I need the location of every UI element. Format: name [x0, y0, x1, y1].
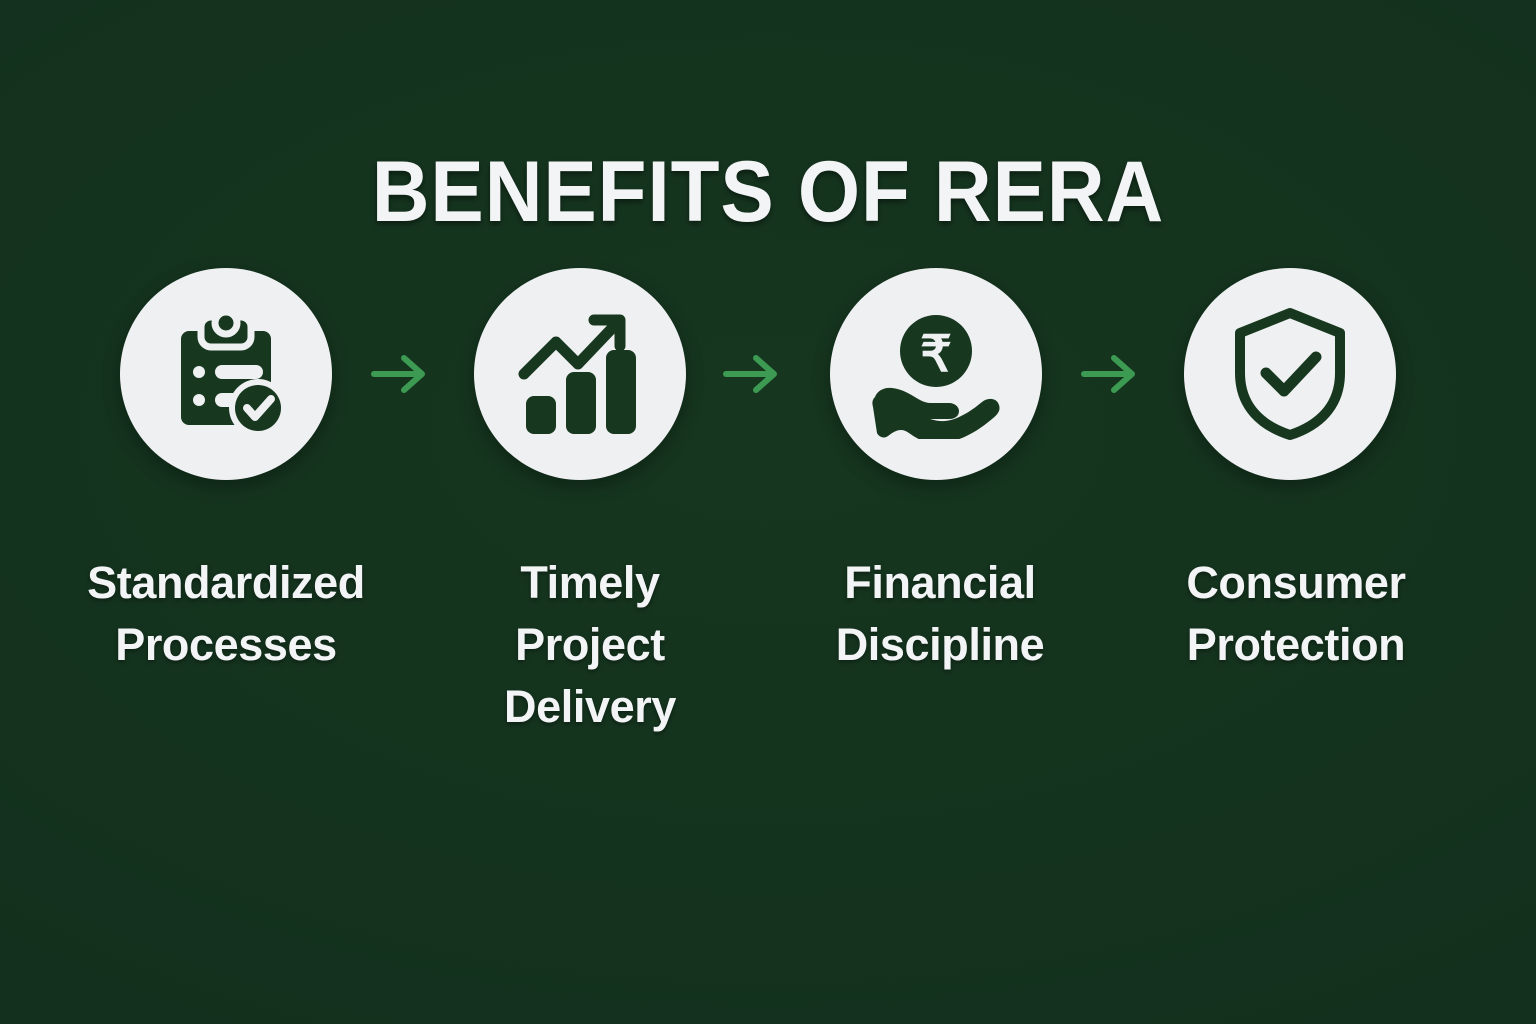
page-title: BENEFITS OF RERA [54, 146, 1482, 238]
svg-text:₹: ₹ [920, 326, 952, 382]
benefits-flow-row: ₹ [0, 268, 1536, 480]
clipboard-check-icon [161, 309, 291, 439]
arrow-1 [370, 346, 430, 402]
arrow-right-icon [1080, 346, 1140, 402]
step-3-label: Financial Discipline [790, 552, 1090, 676]
step-3-label-line-2: Discipline [790, 614, 1090, 676]
step-3-label-line-1: Financial [790, 552, 1090, 614]
step-2-label-line-1: Timely [440, 552, 740, 614]
step-1-label: Standardized Processes [76, 552, 376, 676]
step-3-icon-circle[interactable]: ₹ [830, 268, 1042, 480]
arrow-3 [1080, 346, 1140, 402]
step-2-label-line-3: Delivery [440, 676, 740, 738]
step-4-label: Consumer Protection [1146, 552, 1446, 676]
step-1-label-line-1: Standardized [76, 552, 376, 614]
step-2-label: Timely Project Delivery [440, 552, 740, 738]
arrow-right-icon [722, 346, 782, 402]
step-4-label-line-1: Consumer [1146, 552, 1446, 614]
step-1-label-line-2: Processes [76, 614, 376, 676]
arrow-2 [722, 346, 782, 402]
hand-rupee-coin-icon: ₹ [867, 309, 1005, 439]
step-4-label-line-2: Protection [1146, 614, 1446, 676]
benefits-labels-row: Standardized Processes Timely Project De… [0, 552, 1536, 772]
arrow-right-icon [370, 346, 430, 402]
step-1-icon-circle[interactable] [120, 268, 332, 480]
step-4-icon-circle[interactable] [1184, 268, 1396, 480]
step-2-label-line-2: Project [440, 614, 740, 676]
shield-check-icon [1228, 307, 1352, 441]
growth-chart-icon [514, 308, 646, 440]
step-2-icon-circle[interactable] [474, 268, 686, 480]
infographic-slide: BENEFITS OF RERA [0, 0, 1536, 1024]
